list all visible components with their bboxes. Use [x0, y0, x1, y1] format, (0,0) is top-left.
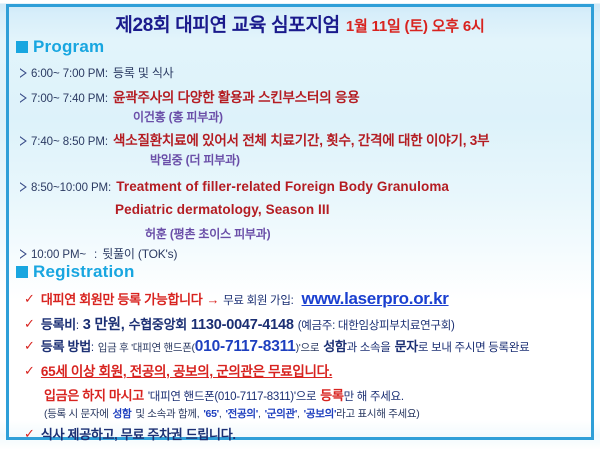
registration-line-3-colon: :	[91, 342, 94, 354]
registration-line-6-text-a: (등록 시 문자에	[44, 406, 109, 421]
registration-line-1-text-a: 대피연 회원만 등록 가능합니다	[41, 289, 203, 308]
registration-line-7: ✓ 식사 제공하고, 무료 주차권 드립니다.	[24, 424, 236, 443]
registration-line-3-text-c: 성함	[323, 336, 346, 355]
registration-meal-parking-notice: 식사 제공하고, 무료 주차권 드립니다.	[41, 424, 236, 443]
registration-line-3-text-e: 문자	[395, 336, 418, 355]
square-bullet-icon	[16, 266, 28, 278]
program-item-5: 10:00 PM~ : 뒷풀이 (TOK's)	[20, 245, 177, 262]
program-item-5-colon: :	[94, 249, 97, 261]
program-item-1-colon: :	[105, 68, 108, 80]
registration-line-6-text-h: '군의관'	[265, 406, 297, 421]
triangle-bullet-icon	[20, 182, 27, 192]
event-date: 1월 11일 (토) 오후 6시	[346, 18, 485, 35]
program-item-3-time: 7:40~ 8:50 PM	[31, 136, 105, 148]
registration-line-6-text-k: 라고 표시해 주세요)	[336, 406, 419, 421]
program-item-4-topic: Treatment of filler-related Foreign Body…	[116, 179, 449, 194]
registration-bank-name: 수협중앙회	[129, 314, 187, 333]
program-section-heading: Program	[16, 37, 104, 57]
registration-fee-label: 등록비	[41, 314, 76, 333]
symposium-poster: 제28회 대피연 교육 심포지엄1월 11일 (토) 오후 6시 Program…	[0, 0, 600, 450]
registration-line-5-text-a: 입금은 하지 마시고	[44, 385, 144, 404]
registration-account-holder: (예금주: 대한임상피부치료연구회)	[298, 317, 455, 333]
registration-line-6: (등록 시 문자에 성함 및 소속과 함께, '65' , '전공의' , '군…	[44, 406, 419, 421]
program-item-4: 8:50~10:00 PM : Treatment of filler-rela…	[20, 179, 449, 194]
registration-line-6-text-g: ,	[258, 408, 261, 420]
check-mark-icon: ✓	[24, 291, 35, 307]
poster-title-row: 제28회 대피연 교육 심포지엄1월 11일 (토) 오후 6시	[0, 10, 600, 37]
program-item-3-topic: 색소질환치료에 있어서 전체 치료기간, 횟수, 간격에 대한 이야기, 3부	[113, 129, 489, 149]
registration-line-6-text-b: 성함	[113, 406, 132, 421]
program-item-4-speaker: 허훈 (평촌 초이스 피부과)	[145, 225, 270, 242]
program-item-2: 7:00~ 7:40 PM : 윤곽주사의 다양한 활용과 스킨부스터의 응용	[20, 86, 359, 106]
square-bullet-icon	[16, 41, 28, 53]
program-item-5-topic: 뒷풀이 (TOK's)	[102, 245, 177, 262]
registration-line-6-text-c: 및 소속과 함께,	[135, 406, 199, 421]
registration-line-3-text-b: )'으로	[296, 340, 320, 355]
page-title: 제28회 대피연 교육 심포지엄	[115, 15, 339, 36]
registration-line-6-text-f: '전공의'	[225, 406, 257, 421]
registration-line-5: 입금은 하지 마시고 '대피연 핸드폰(010-7117-8311)'으로 등록…	[44, 385, 404, 404]
check-mark-icon: ✓	[24, 316, 35, 332]
poster-content: 제28회 대피연 교육 심포지엄1월 11일 (토) 오후 6시 Program…	[0, 0, 600, 450]
registration-heading-label: Registration	[33, 262, 135, 282]
program-item-2-speaker: 이건홍 (홍 피부과)	[133, 108, 223, 125]
program-item-5-time: 10:00 PM~	[31, 249, 86, 261]
program-item-3-speaker: 박일중 (더 피부과)	[150, 151, 240, 168]
registration-line-3-text-f: 로 보내 주시면 등록완료	[418, 339, 529, 355]
registration-line-3: ✓ 등록 방법 : 입금 후 '대피연 핸드폰( 010-7117-8311 )…	[24, 336, 529, 356]
registration-url-link[interactable]: www.laserpro.or.kr	[302, 289, 449, 309]
triangle-bullet-icon	[20, 93, 27, 103]
program-item-3-colon: :	[105, 136, 108, 148]
registration-account-number: 1130-0047-4148	[191, 317, 294, 333]
registration-line-6-text-e: ,	[219, 408, 222, 420]
registration-line-2-colon: :	[76, 320, 79, 332]
check-mark-icon: ✓	[24, 426, 35, 442]
registration-fee-amount: 3 만원,	[83, 313, 125, 334]
registration-section-heading: Registration	[16, 262, 135, 282]
program-item-3: 7:40~ 8:50 PM : 색소질환치료에 있어서 전체 치료기간, 횟수,…	[20, 129, 489, 149]
program-heading-label: Program	[33, 37, 104, 57]
check-mark-icon: ✓	[24, 363, 35, 379]
registration-line-5-text-c: 등록	[320, 385, 343, 404]
registration-method-label: 등록 방법	[41, 336, 91, 355]
program-item-4-colon: :	[108, 182, 111, 194]
registration-line-6-text-d: '65'	[203, 408, 218, 420]
program-item-2-time: 7:00~ 7:40 PM	[31, 93, 105, 105]
check-mark-icon: ✓	[24, 338, 35, 354]
registration-free-notice: 65세 이상 회원, 전공의, 공보의, 군의관은 무료입니다.	[41, 360, 332, 380]
registration-line-6-text-j: '공보의'	[304, 406, 336, 421]
registration-line-5-text-d: 만 해 주세요.	[344, 388, 404, 404]
registration-line-3-text-d: 과 소속을	[347, 339, 391, 355]
program-item-4-subtitle: Pediatric dermatology, Season III	[115, 202, 330, 217]
registration-phone-number: 010-7117-8311	[195, 338, 296, 356]
registration-line-4: ✓ 65세 이상 회원, 전공의, 공보의, 군의관은 무료입니다.	[24, 360, 332, 380]
triangle-bullet-icon	[20, 136, 27, 146]
triangle-bullet-icon	[20, 68, 27, 78]
registration-line-1: ✓ 대피연 회원만 등록 가능합니다 → 무료 회원 가입: www.laser…	[24, 289, 449, 309]
program-item-2-topic: 윤곽주사의 다양한 활용과 스킨부스터의 응용	[113, 86, 359, 106]
registration-line-3-text-a: 입금 후 '대피연 핸드폰(	[98, 340, 195, 355]
triangle-bullet-icon	[20, 249, 27, 259]
program-item-4-time: 8:50~10:00 PM	[31, 182, 108, 194]
program-item-1: 6:00~ 7:00 PM : 등록 및 식사	[20, 64, 174, 81]
registration-line-1-text-b: 무료 회원 가입:	[223, 292, 293, 308]
program-item-1-time: 6:00~ 7:00 PM	[31, 68, 105, 80]
arrow-icon: →	[206, 292, 219, 307]
program-item-2-colon: :	[105, 93, 108, 105]
registration-line-2: ✓ 등록비 : 3 만원, 수협중앙회 1130-0047-4148 (예금주:…	[24, 313, 455, 334]
registration-line-5-text-b: '대피연 핸드폰(010-7117-8311)'으로	[148, 388, 316, 404]
program-item-1-topic: 등록 및 식사	[113, 64, 173, 81]
registration-line-6-text-i: ,	[297, 408, 300, 420]
